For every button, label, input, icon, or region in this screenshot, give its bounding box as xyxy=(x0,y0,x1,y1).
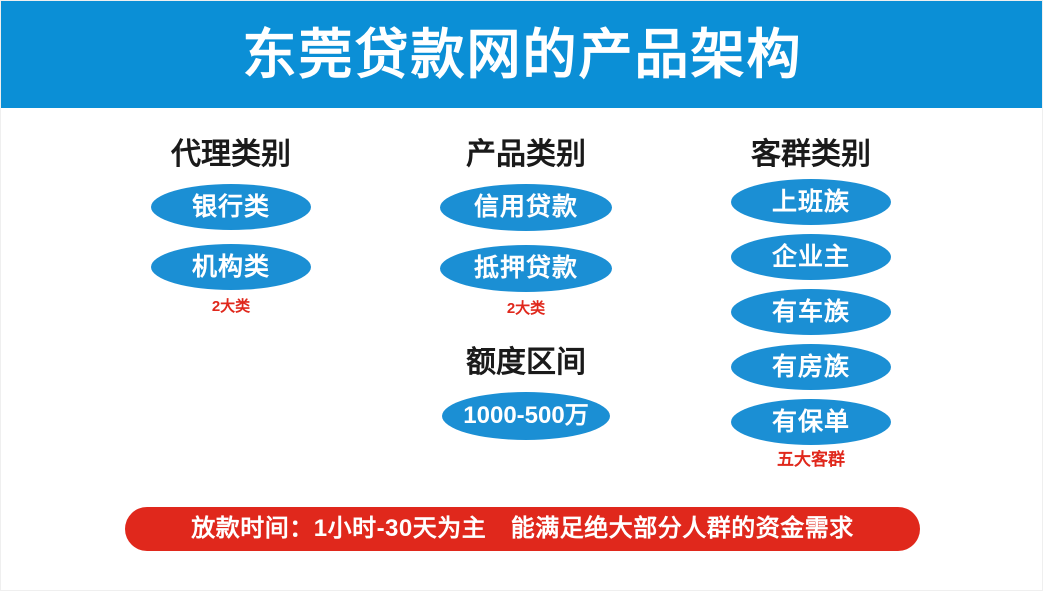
category-pill[interactable]: 抵押贷款 xyxy=(440,245,612,292)
column-note: 2大类 xyxy=(507,301,545,316)
column-customer-category: 客群类别 上班族 企业主 有车族 有房族 有保单 五大客群 xyxy=(691,108,931,468)
pill-stack: 上班族 企业主 有车族 有房族 有保单 xyxy=(731,170,891,445)
footer-text: 放款时间：1小时-30天为主 能满足绝大部分人群的资金需求 xyxy=(191,517,854,541)
category-pill[interactable]: 信用贷款 xyxy=(440,184,612,231)
product-architecture-slide: 东莞贷款网的产品架构 代理类别 银行类 机构类 2大类 产品类别 信用贷款 抵押… xyxy=(0,0,1043,591)
amount-range-pill[interactable]: 1000-500万 xyxy=(442,392,610,440)
column-note: 五大客群 xyxy=(777,451,845,468)
category-pill[interactable]: 有车族 xyxy=(731,289,891,335)
subgroup-amount-range: 额度区间 1000-500万 xyxy=(442,348,610,440)
category-pill[interactable]: 有房族 xyxy=(731,344,891,390)
subgroup-heading: 额度区间 xyxy=(466,348,586,378)
column-heading: 客群类别 xyxy=(751,140,871,170)
category-pill[interactable]: 有保单 xyxy=(731,399,891,445)
category-columns: 代理类别 银行类 机构类 2大类 产品类别 信用贷款 抵押贷款 2大类 额度区间… xyxy=(1,108,1043,493)
pill-stack: 银行类 机构类 xyxy=(151,170,311,290)
category-pill[interactable]: 银行类 xyxy=(151,184,311,230)
pill-stack: 信用贷款 抵押贷款 xyxy=(440,170,612,292)
column-heading: 产品类别 xyxy=(466,140,586,170)
title-banner: 东莞贷款网的产品架构 xyxy=(1,1,1043,108)
category-pill[interactable]: 企业主 xyxy=(731,234,891,280)
category-pill[interactable]: 机构类 xyxy=(151,244,311,290)
column-product-category: 产品类别 信用贷款 抵押贷款 2大类 额度区间 1000-500万 xyxy=(406,108,646,440)
column-note: 2大类 xyxy=(212,299,250,314)
footer-banner: 放款时间：1小时-30天为主 能满足绝大部分人群的资金需求 xyxy=(125,507,920,551)
category-pill[interactable]: 上班族 xyxy=(731,179,891,225)
column-agent-category: 代理类别 银行类 机构类 2大类 xyxy=(111,108,351,314)
column-heading: 代理类别 xyxy=(171,140,291,170)
page-title: 东莞贷款网的产品架构 xyxy=(243,28,803,82)
